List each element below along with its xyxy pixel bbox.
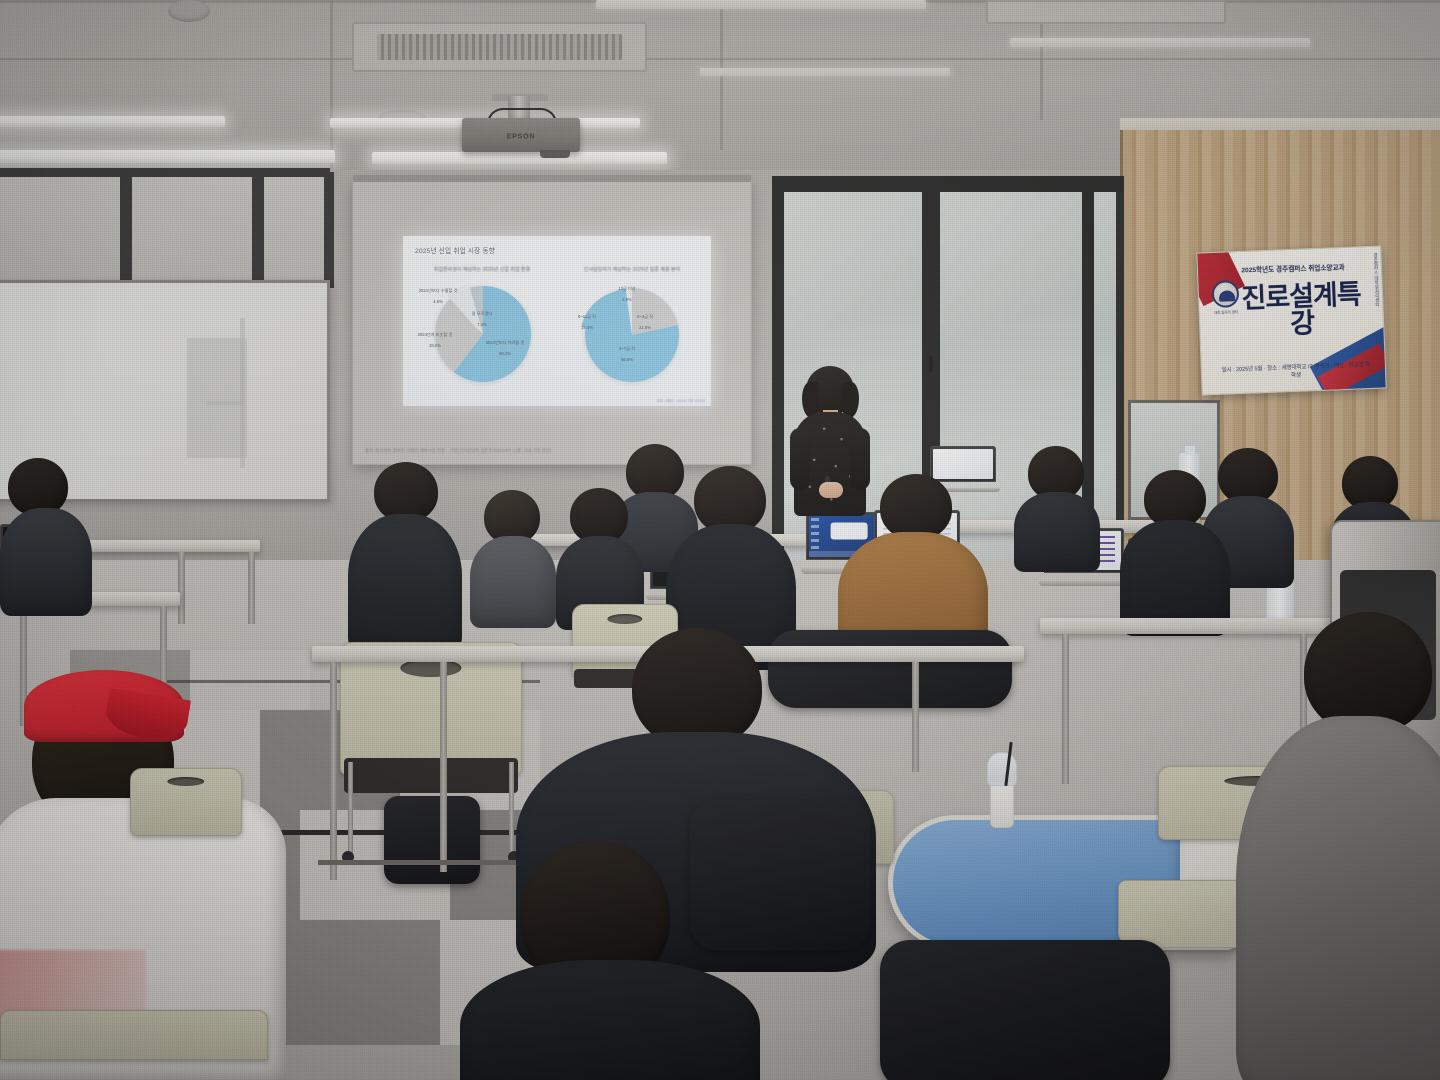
projector-lens-icon: [540, 150, 570, 158]
ceiling-light: [0, 150, 335, 163]
left-window-glass: [0, 176, 120, 286]
door-handle[interactable]: [929, 356, 933, 372]
ceiling-speaker-icon: [168, 0, 210, 22]
pie-chart-left: 취업준비생이 예상하는 2025년 신입 취업 환경 2024년보다 어려울 것…: [409, 266, 555, 398]
left-window-glass: [132, 176, 252, 286]
presentation-slide: 2025년 신입 취업 시장 동향 취업준비생이 예상하는 2025년 신입 취…: [403, 236, 711, 406]
ceiling-light: [596, 0, 926, 9]
banner-main-title: 진로설계특강: [1233, 281, 1371, 340]
slide-source-note: 자료: 사람인 · Incruit 기준 2024년: [656, 398, 705, 403]
ceiling-light: [372, 152, 667, 164]
pie-left-label-2: 잘 모르겠다 7.3%: [463, 305, 501, 328]
audience-member: [1014, 446, 1100, 564]
pie-right-label-1: 8~11급 직 19.4%: [567, 308, 607, 331]
pie-left-label-3: 2024년보다 수월할 것 4.5%: [417, 282, 459, 305]
audience-member: [348, 462, 462, 652]
classroom-photo: EPSON 2025년 신입 취업 시장 동향: [0, 0, 1440, 1080]
banner-side-line: 경주캠퍼스 대학일자리센터: [1372, 253, 1380, 307]
pie-left-label-1: 2024년과 비슷할 것 28.0%: [413, 326, 457, 349]
ceiling-light: [1010, 38, 1310, 47]
audience-member: [1120, 470, 1230, 630]
ceiling-light: [0, 116, 225, 127]
ceiling-light: [700, 68, 950, 76]
pie-chart-left-title: 취업준비생이 예상하는 2025년 신입 취업 환경: [409, 266, 555, 273]
ceiling-air-conditioner-vent: [352, 22, 647, 72]
audience-member: [556, 488, 644, 618]
slide-title: 2025년 신입 취업 시장 동향: [415, 245, 495, 255]
chair[interactable]: [0, 1010, 268, 1080]
pie-chart-right-exploded-slice: [580, 290, 674, 384]
projection-screen: 2025년 신입 취업 시장 동향 취업준비생이 예상하는 2025년 신입 취…: [352, 180, 752, 465]
iced-coffee-cup[interactable]: [985, 752, 1019, 830]
pie-right-label-0: 4~7급 직 56.8%: [603, 340, 651, 363]
left-window-glass: [264, 176, 324, 286]
chair-handle-cutout: [167, 777, 204, 786]
pie-right-label-3: 12급 이상 2.0%: [607, 280, 647, 303]
backpack[interactable]: [880, 940, 1170, 1080]
chair-handle-cutout: [607, 614, 642, 624]
event-banner: 대학 일자리 센터 2025학년도 경주캠퍼스 취업소양교과 진로설계특강 일시…: [1196, 246, 1386, 396]
audience-member: [1236, 612, 1440, 1080]
audience-member: [470, 490, 556, 620]
ceiling-air-conditioner-vent: [986, 0, 1226, 24]
pie-left-label-0: 2024년보다 어려울 것 60.2%: [481, 334, 529, 357]
projector-brand-label: EPSON: [507, 133, 536, 140]
projector: EPSON: [462, 118, 580, 152]
pie-chart-right: 인사담당자가 예상하는 2025년 집중 채용 분야 4~7급 직 56.8% …: [559, 266, 705, 398]
pie-chart-right-title: 인사담당자가 예상하는 2025년 집중 채용 분야: [559, 266, 705, 273]
pie-right-label-2: 0~3급 직 21.8%: [625, 308, 665, 331]
audience-member: [0, 458, 92, 608]
audience-member: [460, 840, 760, 1080]
banner-top-line: 2025학년도 경주캠퍼스 취업소양교과: [1224, 261, 1362, 275]
chair[interactable]: [130, 768, 242, 878]
